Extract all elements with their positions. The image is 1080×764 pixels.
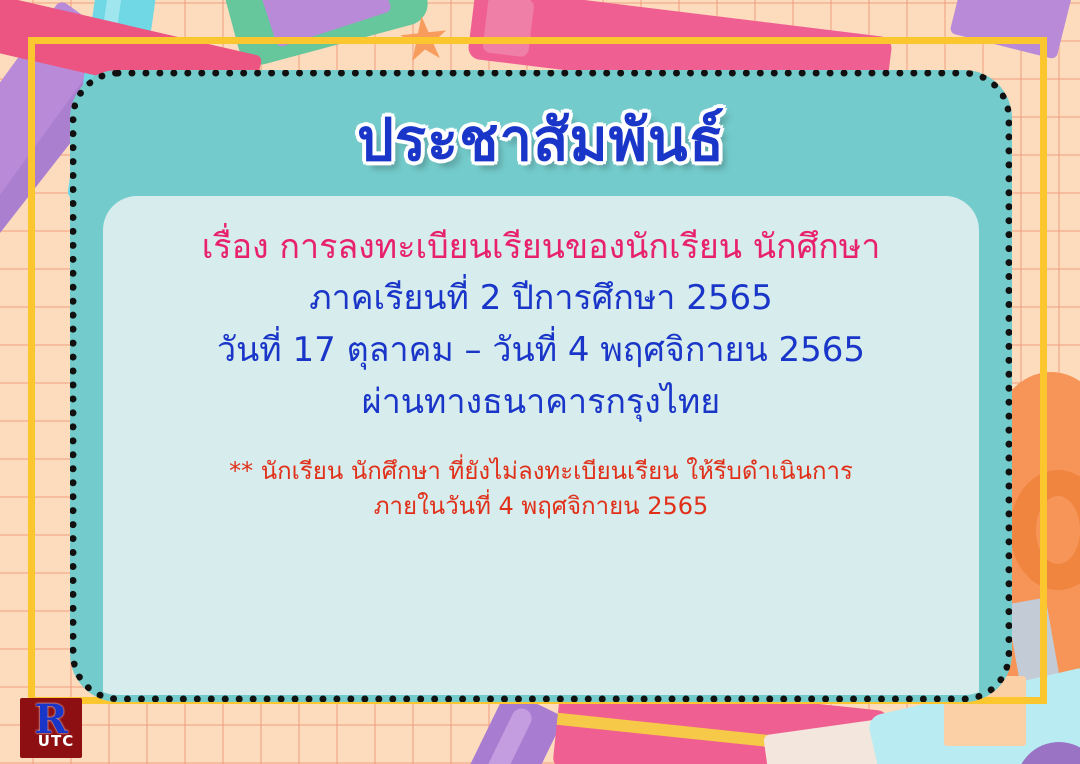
- announcement-line-1: เรื่อง การลงทะเบียนเรียนของนักเรียน นักศ…: [133, 222, 949, 274]
- announcement-note-line-1: ** นักเรียน นักศึกษา ที่ยังไม่ลงทะเบียนเ…: [133, 454, 949, 489]
- announcement-panel: เรื่อง การลงทะเบียนเรียนของนักเรียน นักศ…: [103, 196, 979, 695]
- announcement-note: ** นักเรียน นักศึกษา ที่ยังไม่ลงทะเบียนเ…: [133, 454, 949, 524]
- announcement-line-3: วันที่ 17 ตุลาคม – วันที่ 4 พฤศจิกายน 25…: [133, 325, 949, 377]
- logo-acronym: UTC: [38, 732, 74, 750]
- utc-logo: R UTC: [20, 698, 82, 758]
- announcement-note-line-2: ภายในวันที่ 4 พฤศจิกายน 2565: [133, 489, 949, 524]
- announcement-line-4: ผ่านทางธนาคารกรุงไทย: [133, 377, 949, 429]
- announcement-card: ประชาสัมพันธ์ เรื่อง การลงทะเบียนเรียนขอ…: [70, 70, 1012, 702]
- page-title: ประชาสัมพันธ์: [357, 107, 725, 174]
- poster-canvas: ประชาสัมพันธ์ เรื่อง การลงทะเบียนเรียนขอ…: [0, 0, 1080, 764]
- announcement-line-2: ภาคเรียนที่ 2 ปีการศึกษา 2565: [133, 273, 949, 325]
